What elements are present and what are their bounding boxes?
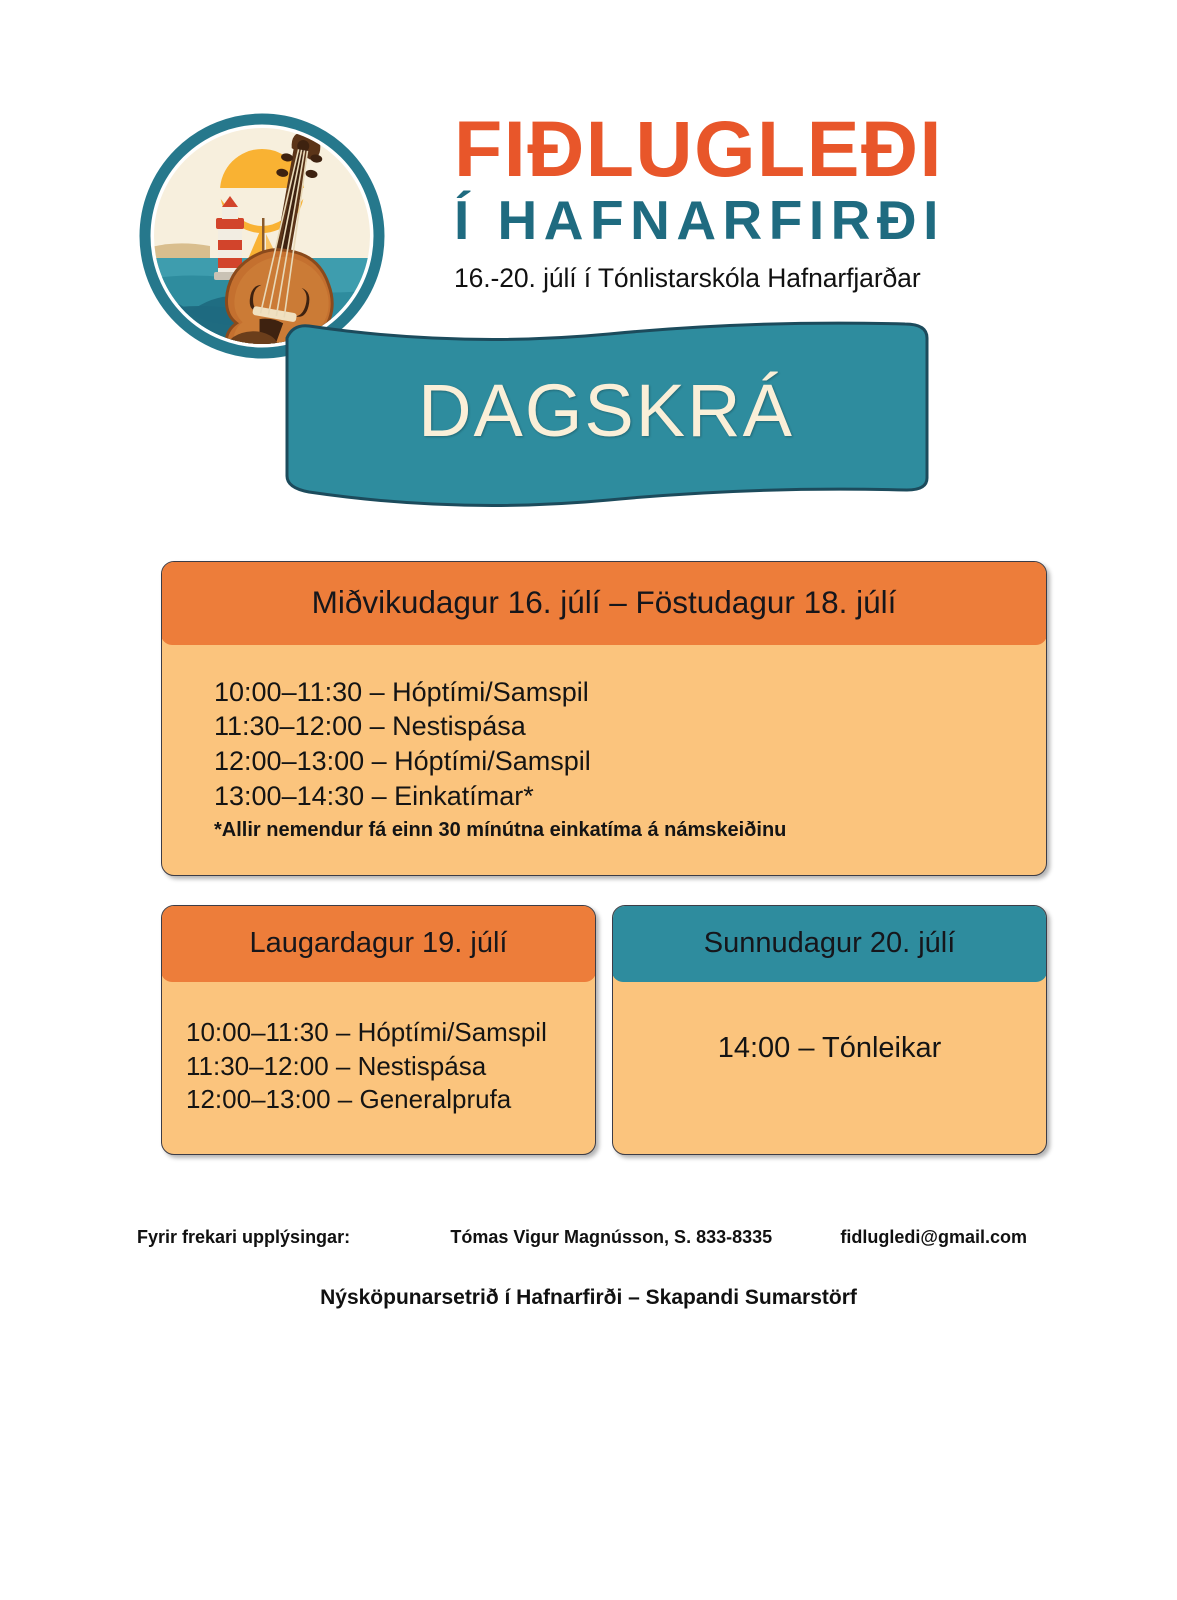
poster-header: FIÐLUGLEÐI Í HAFNARFIRÐI 16.-20. júlí í … — [0, 0, 1177, 300]
footer-contact-person: Tómas Vigur Magnússon, S. 833-8335 — [350, 1227, 840, 1248]
schedule-line: 14:00 – Tónleikar — [718, 1030, 942, 1068]
footer-contact-label: Fyrir frekari upplýsingar: — [137, 1227, 350, 1248]
schedule-line: 13:00–14:30 – Einkatímar* — [214, 779, 1046, 814]
schedule-line: 10:00–11:30 – Hóptími/Samspil — [186, 1016, 595, 1050]
schedule-card-sunday: Sunnudagur 20. júlí 14:00 – Tónleikar — [612, 905, 1047, 1155]
schedule-card-row: Laugardagur 19. júlí 10:00–11:30 – Hóptí… — [161, 905, 1047, 1155]
schedule-card-weekdays: Miðvikudagur 16. júlí – Föstudagur 18. j… — [161, 561, 1047, 876]
title-block: FIÐLUGLEÐI Í HAFNARFIRÐI 16.-20. júlí í … — [454, 96, 945, 294]
card-header-sunday: Sunnudagur 20. júlí — [612, 905, 1047, 982]
schedule-card-saturday: Laugardagur 19. júlí 10:00–11:30 – Hóptí… — [161, 905, 596, 1155]
schedule-line: 12:00–13:00 – Hóptími/Samspil — [214, 744, 1046, 779]
dagskra-banner: DAGSKRÁ — [0, 312, 1177, 527]
card-header-saturday: Laugardagur 19. júlí — [161, 905, 596, 982]
footer-contact-row: Fyrir frekari upplýsingar: Tómas Vigur M… — [0, 1227, 1177, 1248]
footer-contact-email[interactable]: fidlugledi@gmail.com — [840, 1227, 1027, 1248]
schedule-footnote: *Allir nemendur fá einn 30 mínútna einka… — [214, 815, 1046, 845]
schedule-line: 11:30–12:00 – Nestispása — [214, 709, 1046, 744]
card-body-saturday: 10:00–11:30 – Hóptími/Samspil 11:30–12:0… — [162, 982, 595, 1154]
schedule-section: Miðvikudagur 16. júlí – Föstudagur 18. j… — [0, 561, 1177, 1155]
schedule-line: 10:00–11:30 – Hóptími/Samspil — [214, 675, 1046, 710]
footer-organization: Nýsköpunarsetrið í Hafnarfirði – Skapand… — [0, 1286, 1177, 1310]
poster-dates-venue: 16.-20. júlí í Tónlistarskóla Hafnarfjar… — [454, 263, 945, 294]
card-header-weekdays: Miðvikudagur 16. júlí – Föstudagur 18. j… — [161, 561, 1047, 645]
poster-title-primary: FIÐLUGLEÐI — [454, 110, 945, 187]
card-body-weekdays: 10:00–11:30 – Hóptími/Samspil 11:30–12:0… — [162, 645, 1046, 875]
card-body-sunday: 14:00 – Tónleikar — [613, 982, 1046, 1154]
schedule-line: 12:00–13:00 – Generalprufa — [186, 1083, 595, 1117]
poster-title-secondary: Í HAFNARFIRÐI — [454, 189, 945, 252]
schedule-line: 11:30–12:00 – Nestispása — [186, 1050, 595, 1084]
banner-label: DAGSKRÁ — [281, 312, 931, 512]
poster-footer: Fyrir frekari upplýsingar: Tómas Vigur M… — [0, 1227, 1177, 1310]
